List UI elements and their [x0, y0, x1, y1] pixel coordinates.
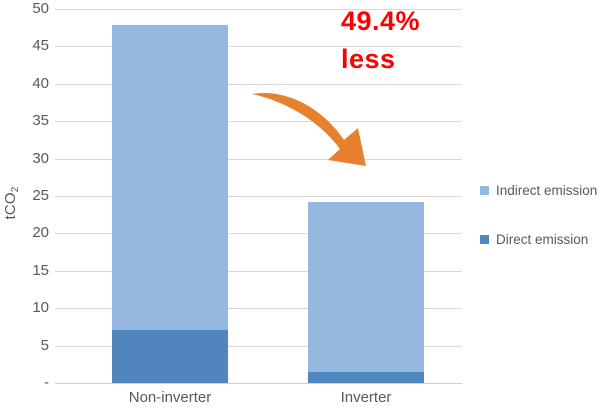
reduction-callout-line1: 49.4% — [341, 2, 420, 40]
gridline — [55, 383, 462, 384]
y-axis-tick-label: 35 — [5, 113, 49, 128]
y-axis-tick-label: 30 — [5, 151, 49, 166]
legend-item-label: Indirect emission — [496, 183, 597, 198]
reduction-callout: 49.4% less — [341, 2, 420, 79]
legend-item-label: Direct emission — [496, 232, 588, 247]
legend-item[interactable]: Indirect emission — [480, 180, 607, 200]
y-axis-tick-label: 10 — [5, 300, 49, 315]
y-axis-tick-label: 50 — [5, 1, 49, 16]
y-axis-tick-label: 25 — [5, 188, 49, 203]
bar-segment — [308, 372, 424, 383]
bar-segment — [112, 25, 228, 329]
y-axis-tick-labels: 5045403530252015105- — [0, 0, 49, 411]
reduction-arrow-icon — [240, 78, 380, 173]
x-axis-tick-label: Non-inverter — [90, 389, 250, 406]
y-axis-tick-label: 15 — [5, 263, 49, 278]
y-axis-tick-label: - — [5, 375, 49, 390]
legend-swatch-icon — [480, 235, 489, 244]
chart-legend: Indirect emissionDirect emission — [480, 180, 607, 278]
y-axis-tick-label: 20 — [5, 225, 49, 240]
bar-segment — [308, 202, 424, 372]
legend-swatch-icon — [480, 186, 489, 195]
legend-item[interactable]: Direct emission — [480, 229, 607, 249]
emissions-stacked-bar-chart: tCO2 5045403530252015105- Non-inverterIn… — [0, 0, 607, 411]
bar-segment — [112, 330, 228, 383]
x-axis-tick-label: Inverter — [286, 389, 446, 406]
y-axis-tick-label: 5 — [5, 338, 49, 353]
y-axis-tick-label: 40 — [5, 76, 49, 91]
reduction-callout-line2: less — [341, 40, 420, 78]
y-axis-tick-label: 45 — [5, 38, 49, 53]
